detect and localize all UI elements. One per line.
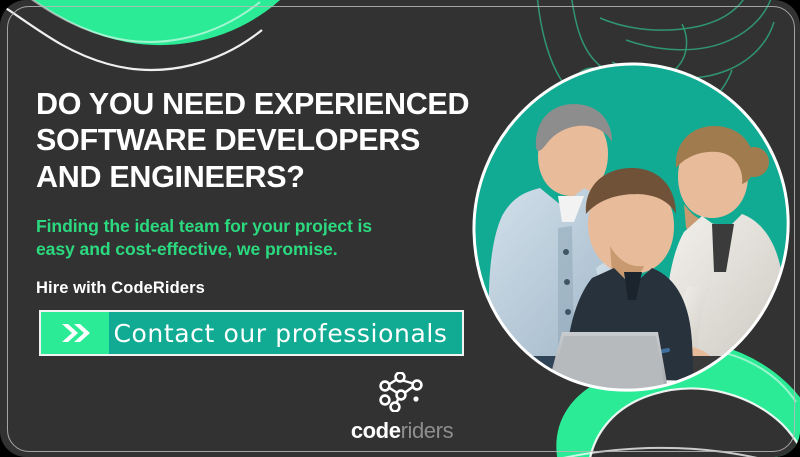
subheadline-line-1: Finding the ideal team for your project … [36,215,466,238]
cta-label: Contact our professionals [109,312,462,354]
double-chevron-right-icon [41,312,109,354]
headline-line-1: DO YOU NEED EXPERIENCED [36,86,466,122]
green-crescent-shape [0,0,300,70]
contact-professionals-button[interactable]: Contact our professionals [39,310,464,356]
banner-card: DO YOU NEED EXPERIENCED SOFTWARE DEVELOP… [0,0,800,457]
water-glass [700,374,728,406]
logo-wordmark: coderiders [336,420,468,442]
banner-stage: DO YOU NEED EXPERIENCED SOFTWARE DEVELOP… [0,0,800,457]
subheadline-line-2: easy and cost-effective, we promise. [36,238,466,261]
node-network-icon [375,372,429,412]
logo-word-code: code [351,418,401,443]
tagline: Hire with CodeRiders [36,279,466,298]
logo-word-riders: riders [401,418,454,443]
text-content: DO YOU NEED EXPERIENCED SOFTWARE DEVELOP… [36,86,466,298]
page-title: DO YOU NEED EXPERIENCED SOFTWARE DEVELOP… [36,86,466,195]
subheadline: Finding the ideal team for your project … [36,215,466,261]
headline-line-3: AND ENGINEERS? [36,159,466,195]
team-photo [462,56,800,406]
coderiders-logo: coderiders [336,372,468,442]
headline-line-2: SOFTWARE DEVELOPERS [36,122,466,158]
